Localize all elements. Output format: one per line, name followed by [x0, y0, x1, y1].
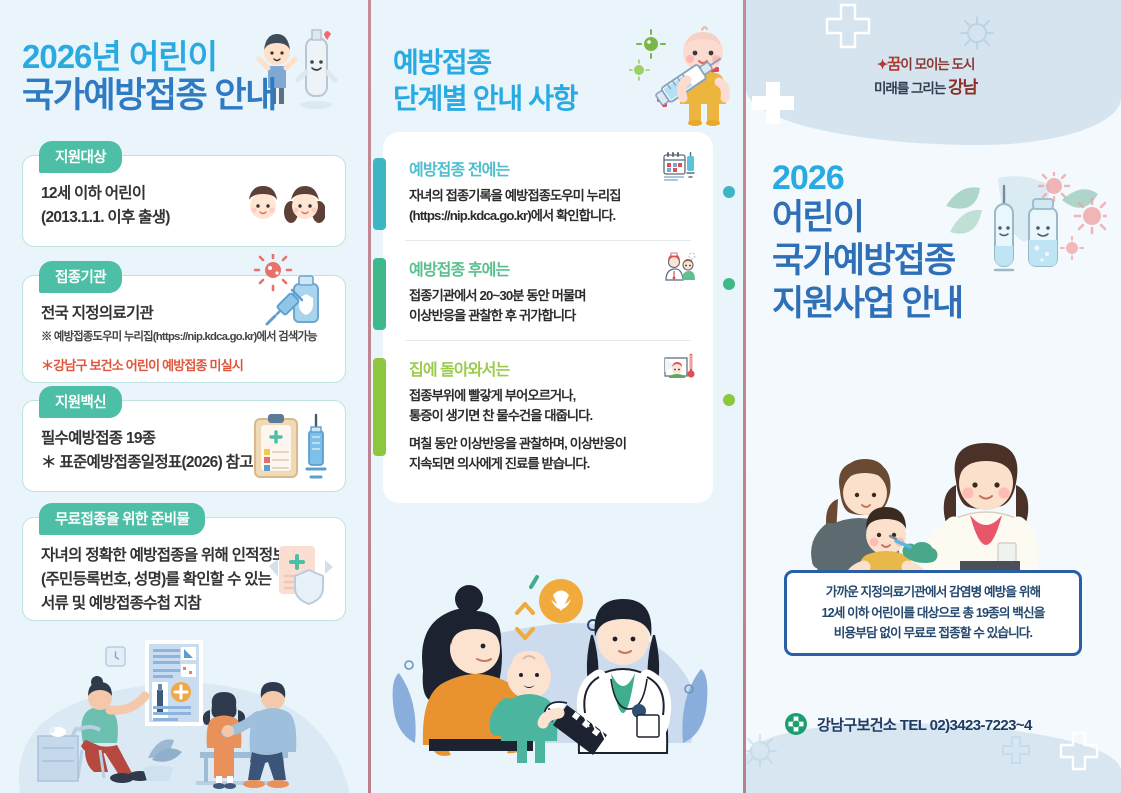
contact-info: 강남구보건소 TEL 02)3423-7223~4: [784, 712, 1032, 736]
cross-decoration-icon: [1059, 731, 1099, 771]
card-line-1: 12세 이하 어린이: [41, 182, 327, 206]
step-text-2: 며칠 동안 이상반응을 관찰하며, 이상반응이 지속되면 의사에게 진료를 받습…: [409, 434, 693, 474]
card-support-target: 지원대상 12세 이하 어린이 (2013.1.1. 이후 출생): [22, 155, 346, 247]
mother-baby-doctor-illustration: [371, 543, 743, 783]
right-panel: ✦꿈이 모이는 도시 미래를 그리는 강남 2026 어린이 국가예방접종 지원…: [746, 0, 1121, 793]
card-body: 자녀의 정확한 예방접종을 위해 인적정보 (주민등록번호, 성명)를 확인할 …: [23, 518, 345, 632]
right-title-year: 2026: [772, 160, 962, 197]
contact-text: 강남구보건소 TEL 02)3423-7223~4: [817, 714, 1032, 735]
card-line-1: 필수예방접종 19종: [41, 427, 327, 451]
note-box: 가까운 지정의료기관에서 감염병 예방을 위해 12세 이하 어린이를 대상으로…: [784, 570, 1082, 656]
step-before-vaccination: 예방접종 전에는 자녀의 접종기록을 예방접종도우미 누리집 (https://…: [383, 140, 713, 240]
steps-container: 예방접종 전에는 자녀의 접종기록을 예방접종도우미 누리집 (https://…: [383, 132, 713, 503]
left-title-line1: 2026년 어린이: [22, 38, 276, 76]
cross-decoration-icon: [1001, 735, 1031, 765]
calendar-syringe-icon: [663, 152, 697, 182]
card-tag-label: 지원대상: [39, 141, 122, 173]
step-accent-bar: [373, 258, 386, 330]
card-supported-vaccines: 지원백신 필수예방접종 19종 ＊ 표준예방접종일정표(2026) 참고: [22, 400, 346, 492]
card-vaccination-facility: 접종기관 전국 지정의료기관 ※ 예방접종도우미 누리집(https://nip…: [22, 275, 346, 383]
right-title-line1: 어린이: [772, 197, 962, 240]
clinic-waiting-room-illustration: [0, 618, 368, 793]
step-accent-bar: [373, 158, 386, 230]
virus-decoration-icon: [746, 731, 780, 771]
card-line-2: (2013.1.1. 이후 출생): [41, 206, 327, 230]
card-line-2: (주민등록번호, 성명)를 확인할 수 있는: [41, 568, 327, 592]
doctor-child-icon: [663, 252, 697, 282]
right-title-line2: 국가예방접종: [772, 240, 962, 283]
note-text: 가까운 지정의료기관에서 감염병 예방을 위해 12세 이하 어린이를 대상으로…: [821, 582, 1044, 644]
step-heading: 예방접종 전에는: [409, 156, 693, 180]
mid-panel: 예방접종 단계별 안내 사항: [371, 0, 743, 793]
card-line-2: ＊ 표준예방접종일정표(2026) 참고: [41, 451, 327, 475]
virus-decoration-icon: [958, 14, 996, 52]
right-title: 2026 어린이 국가예방접종 지원사업 안내: [772, 160, 962, 325]
cross-outline-decoration-icon: [824, 2, 872, 50]
card-line-3: 서류 및 예방접종수첩 지참: [41, 592, 327, 616]
step-dot: [723, 278, 735, 290]
left-title-line2: 국가예방접종 안내: [22, 76, 276, 117]
brochure-page: 2026년 어린이 국가예방접종 안내 지원대상 12세 이하 어린이 (201: [0, 0, 1121, 793]
card-tag-label: 무료접종을 위한 준비물: [39, 503, 205, 535]
step-text: 자녀의 접종기록을 예방접종도우미 누리집 (https://nip.kdca.…: [409, 186, 693, 226]
step-heading: 집에 돌아와서는: [409, 356, 693, 380]
step-dot: [723, 394, 735, 406]
step-text: 접종기관에서 20~30분 동안 머물며 이상반응을 관찰한 후 귀가합니다: [409, 286, 693, 326]
card-tag-label: 접종기관: [39, 261, 122, 293]
card-preparation-items: 무료접종을 위한 준비물 자녀의 정확한 예방접종을 위해 인적정보 (주민등록…: [22, 517, 346, 621]
baby-with-syringe-icon: [629, 22, 735, 126]
card-note: ※ 예방접종도우미 누리집(https://nip.kdca.go.kr)에서 …: [41, 329, 327, 346]
card-tag-label: 지원백신: [39, 386, 122, 418]
mid-title-line2: 단계별 안내 사항: [393, 81, 577, 117]
logo-line1: ✦꿈이 모이는 도시: [874, 52, 977, 74]
mid-title-line1: 예방접종: [393, 45, 577, 81]
card-alert: ＊강남구 보건소 어린이 예방접종 미실시: [41, 355, 327, 374]
cross-decoration-icon: [750, 80, 796, 126]
health-center-icon: [784, 712, 808, 736]
left-title: 2026년 어린이 국가예방접종 안내: [22, 38, 276, 117]
card-line-1: 자녀의 정확한 예방접종을 위해 인적정보: [41, 544, 327, 568]
step-heading: 예방접종 후에는: [409, 256, 693, 280]
step-accent-bar: [373, 358, 386, 456]
mid-title: 예방접종 단계별 안내 사항: [393, 45, 577, 117]
step-after-vaccination: 예방접종 후에는 접종기관에서 20~30분 동안 머물며 이상반응을 관찰한 …: [383, 240, 713, 340]
left-panel: 2026년 어린이 국가예방접종 안내 지원대상 12세 이하 어린이 (201: [0, 0, 368, 793]
doctor-vaccinating-child-illustration: [770, 395, 1100, 585]
step-dot: [723, 186, 735, 198]
right-title-line3: 지원사업 안내: [772, 283, 962, 326]
card-line-1: 전국 지정의료기관: [41, 302, 327, 326]
child-fever-bed-icon: [663, 352, 697, 382]
gangnam-logo: ✦꿈이 모이는 도시 미래를 그리는 강남: [874, 52, 977, 98]
logo-line2: 미래를 그리는 강남: [874, 73, 977, 98]
step-back-home: 집에 돌아와서는 접종부위에 빨갛게 부어오르거나, 통증이 생기면 찬 물수건…: [383, 340, 713, 488]
card-body: 전국 지정의료기관 ※ 예방접종도우미 누리집(https://nip.kdca…: [23, 276, 345, 390]
step-text-1: 접종부위에 빨갛게 부어오르거나, 통증이 생기면 찬 물수건을 대줍니다.: [409, 386, 693, 426]
